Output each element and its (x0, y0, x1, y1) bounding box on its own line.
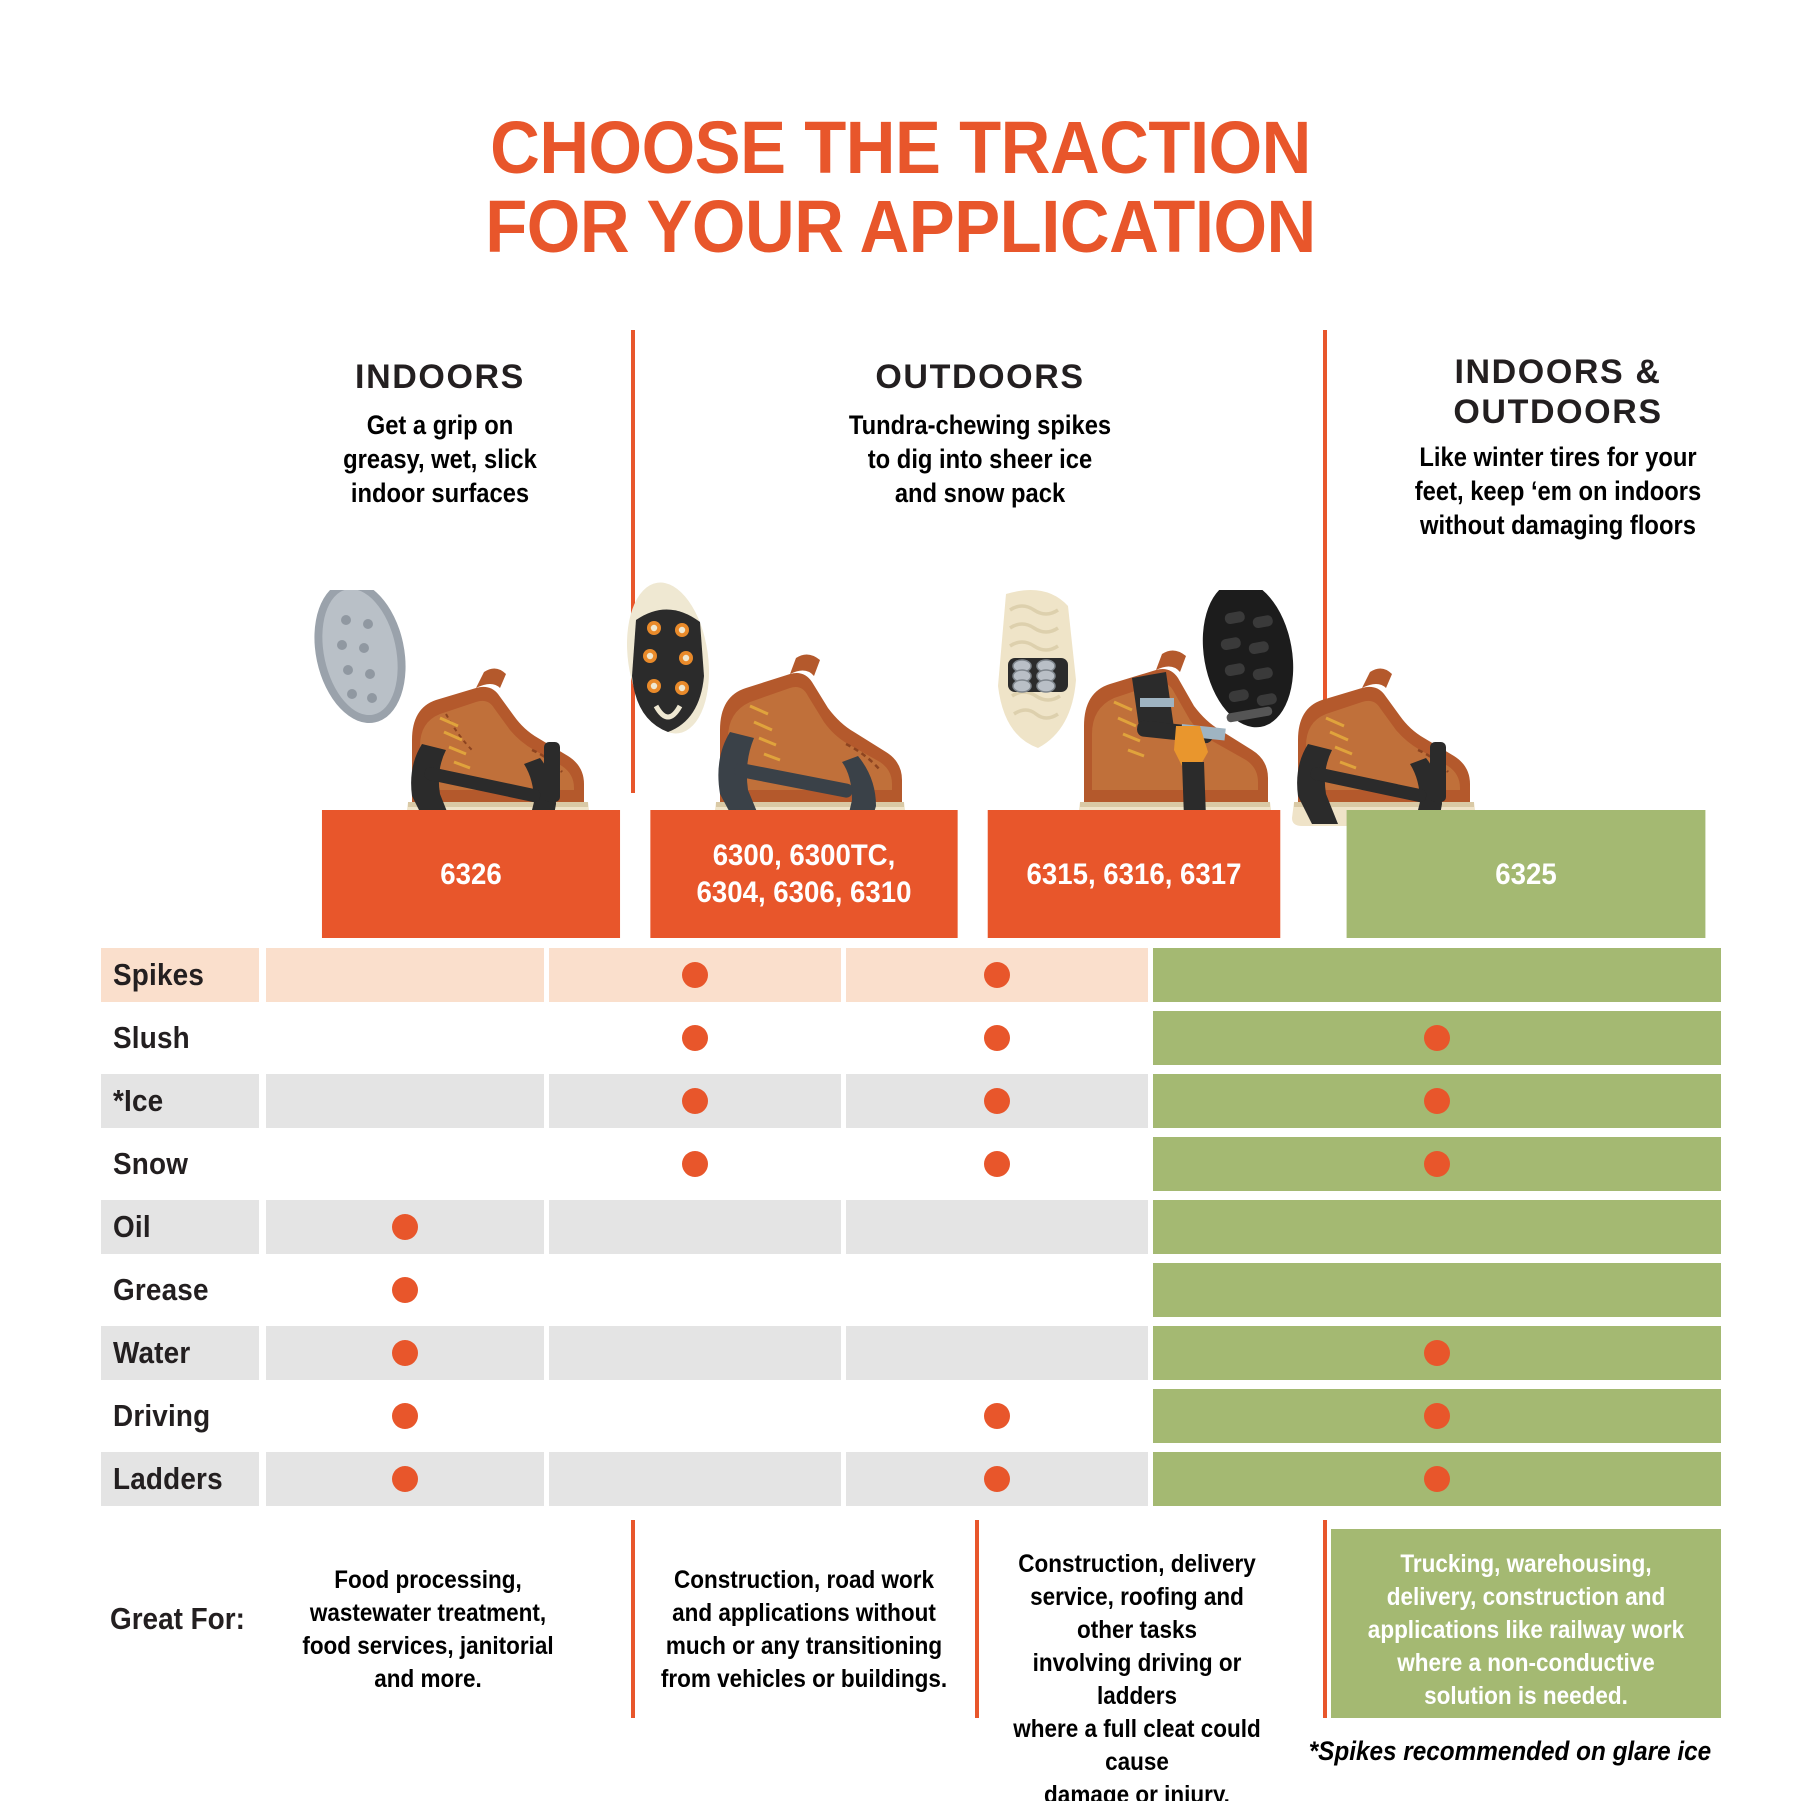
matrix-cell-band (549, 1200, 841, 1254)
divider-col3-col4-lower (1323, 1520, 1327, 1718)
model-bar-6326-label: 6326 (440, 856, 501, 893)
matrix-cell-band (549, 1326, 841, 1380)
category-indoors-outdoors-desc: Like winter tires for yourfeet, keep ‘em… (1373, 440, 1743, 542)
category-outdoors-desc: Tundra-chewing spikesto dig into sheer i… (698, 408, 1261, 510)
matrix-row-label-ladders: Ladders (101, 1452, 259, 1506)
model-bar-6315-series: 6315, 6316, 6317 (988, 810, 1281, 938)
category-outdoors: OUTDOORS Tundra-chewing spikesto dig int… (660, 357, 1300, 510)
matrix-row-label-text: Grease (113, 1272, 209, 1308)
matrix-row-label-text: Snow (113, 1146, 188, 1182)
matrix-row-label-text: Water (113, 1335, 190, 1371)
matrix-cell-band-green (1153, 1263, 1721, 1317)
matrix-dot (1424, 1025, 1450, 1051)
model-bar-6300-series: 6300, 6300TC,6304, 6306, 6310 (650, 810, 957, 938)
matrix-row-label-ice: *Ice (101, 1074, 259, 1128)
page-title-line-2: FOR YOUR APPLICATION (63, 187, 1738, 266)
product-image-6325 (1186, 590, 1486, 830)
category-indoors-desc: Get a grip ongreasy, wet, slickindoor su… (282, 408, 599, 510)
model-bar-6326: 6326 (322, 810, 620, 938)
matrix-cell-band (846, 1200, 1148, 1254)
boot-with-spike-cleat-icon (596, 580, 916, 830)
matrix-dot (984, 1403, 1010, 1429)
matrix-row-label-text: Ladders (113, 1461, 223, 1497)
matrix-row-label-text: *Ice (113, 1083, 163, 1119)
matrix-dot (682, 1088, 708, 1114)
matrix-dot (682, 1151, 708, 1177)
matrix-cell-band-green (1153, 948, 1721, 1002)
matrix-row-label-spikes: Spikes (101, 948, 259, 1002)
matrix-dot (392, 1403, 418, 1429)
boot-with-indoor-traction-icon (300, 590, 600, 830)
great-for-cell-6326: Food processing,wastewater treatment,foo… (282, 1564, 574, 1696)
matrix-row-label-slush: Slush (101, 1011, 259, 1065)
matrix-dot (392, 1214, 418, 1240)
boot-with-all-surface-traction-icon (1186, 590, 1486, 830)
matrix-dot (392, 1340, 418, 1366)
divider-col2-col3-lower (975, 1520, 979, 1718)
great-for-cell-6300-series: Construction, road workand applications … (654, 1564, 955, 1696)
infographic-root: CHOOSE THE TRACTION FOR YOUR APPLICATION… (0, 0, 1801, 1801)
matrix-dot (984, 1025, 1010, 1051)
category-indoors-outdoors-title: INDOORS &OUTDOORS (1348, 352, 1768, 432)
matrix-row-label-text: Oil (113, 1209, 151, 1245)
matrix-dot (984, 1151, 1010, 1177)
matrix-dot (1424, 1151, 1450, 1177)
matrix-dot (1424, 1466, 1450, 1492)
matrix-dot (984, 1088, 1010, 1114)
matrix-cell-band (266, 1074, 544, 1128)
category-indoors-outdoors: INDOORS &OUTDOORS Like winter tires for … (1348, 352, 1768, 542)
matrix-dot (392, 1466, 418, 1492)
model-bar-6325: 6325 (1347, 810, 1706, 938)
model-bar-6315-series-label: 6315, 6316, 6317 (1027, 856, 1242, 893)
matrix-row-label-driving: Driving (101, 1389, 259, 1443)
product-image-6326 (300, 590, 600, 830)
matrix-cell-band (266, 948, 544, 1002)
matrix-row-label-oil: Oil (101, 1200, 259, 1254)
matrix-dot (392, 1277, 418, 1303)
matrix-dot (682, 962, 708, 988)
model-bar-6325-label: 6325 (1495, 856, 1556, 893)
matrix-dot (682, 1025, 708, 1051)
matrix-cell-band (846, 1326, 1148, 1380)
great-for-cell-6315-series: Construction, deliveryservice, roofing a… (997, 1548, 1278, 1801)
matrix-row-label-text: Slush (113, 1020, 190, 1056)
product-image-6300-series (596, 580, 916, 830)
model-bar-6300-series-label: 6300, 6300TC,6304, 6306, 6310 (697, 837, 912, 911)
page-title-line-1: CHOOSE THE TRACTION (63, 108, 1738, 187)
great-for-cell-6325: Trucking, warehousing,delivery, construc… (1351, 1548, 1702, 1713)
matrix-cell-band (549, 1452, 841, 1506)
matrix-row-label-water: Water (101, 1326, 259, 1380)
divider-col1-col2-lower (631, 1520, 635, 1718)
footnote-spikes-glare-ice: *Spikes recommended on glare ice (1309, 1736, 1711, 1767)
great-for-label: Great For: (110, 1601, 245, 1637)
matrix-dot (1424, 1088, 1450, 1114)
category-indoors: INDOORS Get a grip ongreasy, wet, slicki… (260, 357, 620, 510)
category-outdoors-title: OUTDOORS (660, 357, 1300, 397)
matrix-row-label-text: Spikes (113, 957, 204, 993)
matrix-row-label-snow: Snow (101, 1137, 259, 1191)
matrix-row-label-grease: Grease (101, 1263, 259, 1317)
matrix-cell-band-green (1153, 1200, 1721, 1254)
matrix-dot (984, 1466, 1010, 1492)
page-title: CHOOSE THE TRACTION FOR YOUR APPLICATION (63, 108, 1738, 266)
category-indoors-title: INDOORS (260, 357, 620, 397)
matrix-dot (1424, 1340, 1450, 1366)
matrix-row-label-text: Driving (113, 1398, 210, 1434)
matrix-dot (984, 962, 1010, 988)
matrix-dot (1424, 1403, 1450, 1429)
